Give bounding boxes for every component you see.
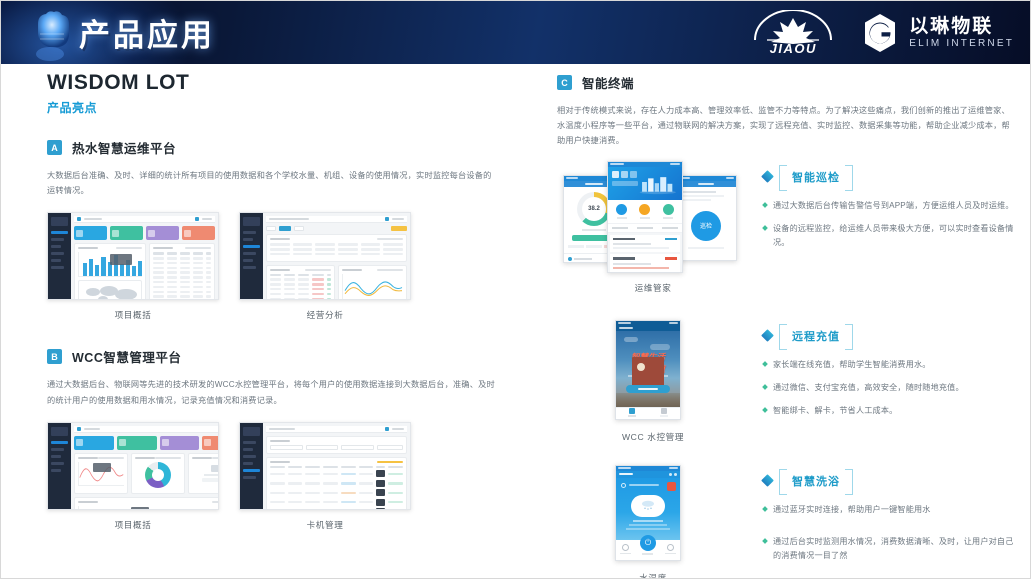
feature-block-bathing: 智慧洗浴 通过蓝牙实时连接，帮助用户一键智能用水 通过后台实时监测用水情况，消费…	[763, 465, 1017, 579]
feature-title: 智慧洗浴	[792, 476, 840, 488]
feature-title-row: 智慧洗浴	[763, 469, 1017, 493]
bullet-diamond-icon	[762, 506, 768, 512]
product-application-page: 产品应用 JIAOU 以琳物联 ELIM INTERNET	[0, 0, 1031, 579]
bar-chart	[78, 506, 219, 510]
bullet-diamond-icon	[762, 384, 768, 390]
app-filters[interactable]	[608, 223, 682, 233]
screenshot-caption: 卡机管理	[239, 519, 411, 531]
feature-title: 智能巡检	[792, 172, 840, 184]
temp-tabbar[interactable]: ⏻	[616, 540, 680, 559]
bullet-text: 智能绑卡、解卡，节省人工成本。	[773, 404, 897, 418]
alert-list-item[interactable]	[610, 254, 680, 272]
bullet-text: 通过后台实时监测用水情况，消费数据清晰、及时，让用户对自己的消费情况一目了然	[773, 535, 1017, 563]
dashboard-main	[71, 213, 218, 299]
bullet-diamond-icon	[762, 225, 768, 231]
screenshot-caption: 项目概括	[47, 519, 219, 531]
bullet-diamond-icon	[762, 407, 768, 413]
temperature-value: 38.2	[582, 197, 606, 221]
header-logos: JIAOU 以琳物联 ELIM INTERNET	[745, 7, 1014, 59]
line-chart	[78, 462, 124, 486]
phone-caption: 水温度	[557, 572, 749, 579]
terminal-block-1: 38.2	[557, 161, 1017, 294]
section-body-a: 大数据后台准确、及时、详细的统计所有项目的使用数据和各个学校水量、机组、设备的使…	[47, 168, 499, 198]
bullet-item: 通过后台实时监测用水情况，消费数据清晰、及时，让用户对自己的消费情况一目了然	[763, 535, 1017, 563]
page-header: 产品应用 JIAOU 以琳物联 ELIM INTERNET	[1, 1, 1031, 64]
bullet-text: 通过大数据后台传输告警信号到APP端，方便运维人员及时运维。	[773, 199, 1014, 213]
phone-mockup-group[interactable]: 智慧生活 一键充值	[557, 320, 749, 443]
business-analysis-image	[239, 212, 411, 300]
phone-caption: 运维管家	[557, 282, 749, 294]
section-header-b: B WCC智慧管理平台	[47, 347, 499, 366]
feature-title: 远程充值	[792, 331, 840, 343]
section-title-b: WCC智慧管理平台	[72, 347, 181, 366]
feature-title-row: 智能巡检	[763, 165, 1017, 189]
dashboard-main	[263, 213, 410, 299]
feature-block-recharge: 远程充值 家长端在线充值，帮助学生智能消费用水。 通过微信、支付宝充值，高效安全…	[763, 320, 1017, 443]
screenshot-row-a: 项目概括	[47, 212, 499, 321]
page-title: WISDOM LOT	[47, 71, 499, 95]
bullet-text: 通过微信、支付宝充值，高效安全，随时随地充值。	[773, 381, 964, 395]
bullet-item: 智能绑卡、解卡，节省人工成本。	[763, 404, 1017, 418]
terminal-block-3: ⏻ 水温度	[557, 465, 1017, 579]
phone-caption: WCC 水控管理	[557, 431, 749, 443]
diamond-icon	[761, 170, 774, 183]
elim-logo-names: 以琳物联 ELIM INTERNET	[909, 17, 1014, 49]
bullet-item: 家长端在线充值，帮助学生智能消费用水。	[763, 358, 1017, 372]
world-map	[78, 280, 142, 300]
power-icon[interactable]: ⏻	[640, 535, 656, 551]
screenshot-item[interactable]: 项目概括	[47, 212, 219, 321]
screenshot-caption: 经营分析	[239, 309, 411, 321]
screenshot-item[interactable]: 经营分析	[239, 212, 411, 321]
phone-mockups-ops: 38.2	[557, 161, 749, 273]
elim-logo-cn: 以琳物联	[909, 17, 1014, 37]
screenshot-row-b: 项目概括	[47, 422, 499, 531]
section-body-b: 通过大数据后台、物联网等先进的技术研发的WCC水控管理平台，将每个用户的使用数据…	[47, 377, 499, 407]
section-body-c: 相对于传统模式来说，存在人力成本高、管理效率低、监管不力等特点。为了解决这些痛点…	[557, 103, 1017, 149]
feature-title-bracket: 远程充值	[779, 324, 853, 348]
elim-logo-en: ELIM INTERNET	[909, 39, 1014, 50]
bullet-text: 通过蓝牙实时连接，帮助用户一键智能用水	[773, 503, 931, 517]
feature-title-row: 远程充值	[763, 324, 1017, 348]
fist-icon	[26, 4, 74, 62]
recharge-button[interactable]	[626, 385, 670, 393]
bullet-diamond-icon	[762, 202, 768, 208]
phone-mockups-temp: ⏻	[557, 465, 749, 563]
bullet-text: 设备的远程监控，给运维人员带来极大方便，可以实时查看设备情况。	[773, 222, 1017, 250]
dashboard-main	[71, 423, 219, 509]
elim-logo: 以琳物联 ELIM INTERNET	[859, 12, 1014, 54]
section-badge-c: C	[557, 75, 572, 90]
section-header-a: A 热水智慧运维平台	[47, 138, 499, 157]
terminal-block-2: 智慧生活 一键充值	[557, 320, 1017, 443]
dashboard-sidebar	[48, 423, 71, 509]
page-subtitle: 产品亮点	[47, 99, 499, 116]
bullet-item: 设备的远程监控，给运维人员带来极大方便，可以实时查看设备情况。	[763, 222, 1017, 250]
dashboard-overview-image	[47, 212, 219, 300]
feature-title-bracket: 智能巡检	[779, 165, 853, 189]
bar-chart	[78, 252, 142, 277]
inspect-button[interactable]: 巡检	[691, 211, 721, 241]
feature-bullets: 家长端在线充值，帮助学生智能消费用水。 通过微信、支付宝充值，高效安全，随时随地…	[763, 358, 1017, 418]
wcc-hero-image: 智慧生活 一键充值	[616, 331, 680, 407]
dashboard-sidebar	[240, 423, 263, 509]
phone-water-temperature: ⏻	[615, 465, 681, 561]
header-title: 产品应用	[79, 10, 215, 55]
elim-mark-icon	[859, 12, 901, 54]
diamond-icon	[761, 474, 774, 487]
app-quick-actions[interactable]	[608, 200, 682, 223]
donut-chart	[145, 462, 171, 488]
right-column: C 智能终端 相对于传统模式来说，存在人力成本高、管理效率低、监管不力等特点。为…	[557, 73, 1017, 579]
feature-block-inspection: 智能巡检 通过大数据后台传输告警信号到APP端，方便运维人员及时运维。 设备的远…	[763, 161, 1017, 294]
section-badge-b: B	[47, 349, 62, 364]
alert-list-item[interactable]	[610, 235, 680, 253]
app-banner	[608, 167, 682, 200]
card-machine-image	[239, 422, 411, 510]
phone-wcc-recharge: 智慧生活 一键充值	[615, 320, 681, 420]
phone-ops-steward	[607, 161, 683, 273]
screenshot-caption: 项目概括	[47, 309, 219, 321]
feature-title-bracket: 智慧洗浴	[779, 469, 853, 493]
phone-inspection: 巡检	[675, 175, 737, 261]
section-badge-a: A	[47, 140, 62, 155]
wcc-tabbar[interactable]	[616, 407, 680, 418]
bullet-diamond-icon	[762, 361, 768, 367]
section-title-c: 智能终端	[582, 73, 634, 92]
jiaou-logo: JIAOU	[745, 10, 841, 56]
wcc-overview-image	[47, 422, 219, 510]
bullet-text: 家长端在线充值，帮助学生智能消费用水。	[773, 358, 931, 372]
bullet-diamond-icon	[762, 538, 768, 544]
shower-head-icon	[631, 495, 665, 517]
jiaou-logo-text: JIAOU	[745, 41, 841, 56]
bullet-item: 通过大数据后台传输告警信号到APP端，方便运维人员及时运维。	[763, 199, 1017, 213]
screenshot-item[interactable]: 项目概括	[47, 422, 219, 531]
city-illustration-icon	[636, 167, 682, 200]
bullet-item: 通过微信、支付宝充值，高效安全，随时随地充值。	[763, 381, 1017, 395]
phone-mockups-wcc: 智慧生活 一键充值	[557, 320, 749, 422]
dashboard-main	[263, 423, 410, 509]
phone-mockup-group[interactable]: ⏻ 水温度	[557, 465, 749, 579]
line-chart	[342, 274, 403, 300]
dashboard-sidebar	[48, 213, 71, 299]
screenshot-item[interactable]: 卡机管理	[239, 422, 411, 531]
dashboard-sidebar	[240, 213, 263, 299]
section-header-c: C 智能终端	[557, 73, 1017, 92]
feature-bullets: 通过大数据后台传输告警信号到APP端，方便运维人员及时运维。 设备的远程监控，给…	[763, 199, 1017, 250]
left-column: WISDOM LOT 产品亮点 A 热水智慧运维平台 大数据后台准确、及时、详细…	[47, 71, 499, 531]
phone-mockup-group[interactable]: 38.2	[557, 161, 749, 294]
data-table	[153, 252, 211, 300]
diamond-icon	[761, 329, 774, 342]
jiaou-mark-icon	[745, 10, 841, 44]
section-title-a: 热水智慧运维平台	[72, 138, 176, 157]
temp-hero	[616, 478, 680, 540]
device-badge-icon	[667, 482, 676, 491]
feature-bullets: 通过蓝牙实时连接，帮助用户一键智能用水 通过后台实时监测用水情况，消费数据清晰、…	[763, 503, 1017, 563]
bullet-item: 通过蓝牙实时连接，帮助用户一键智能用水	[763, 503, 1017, 517]
